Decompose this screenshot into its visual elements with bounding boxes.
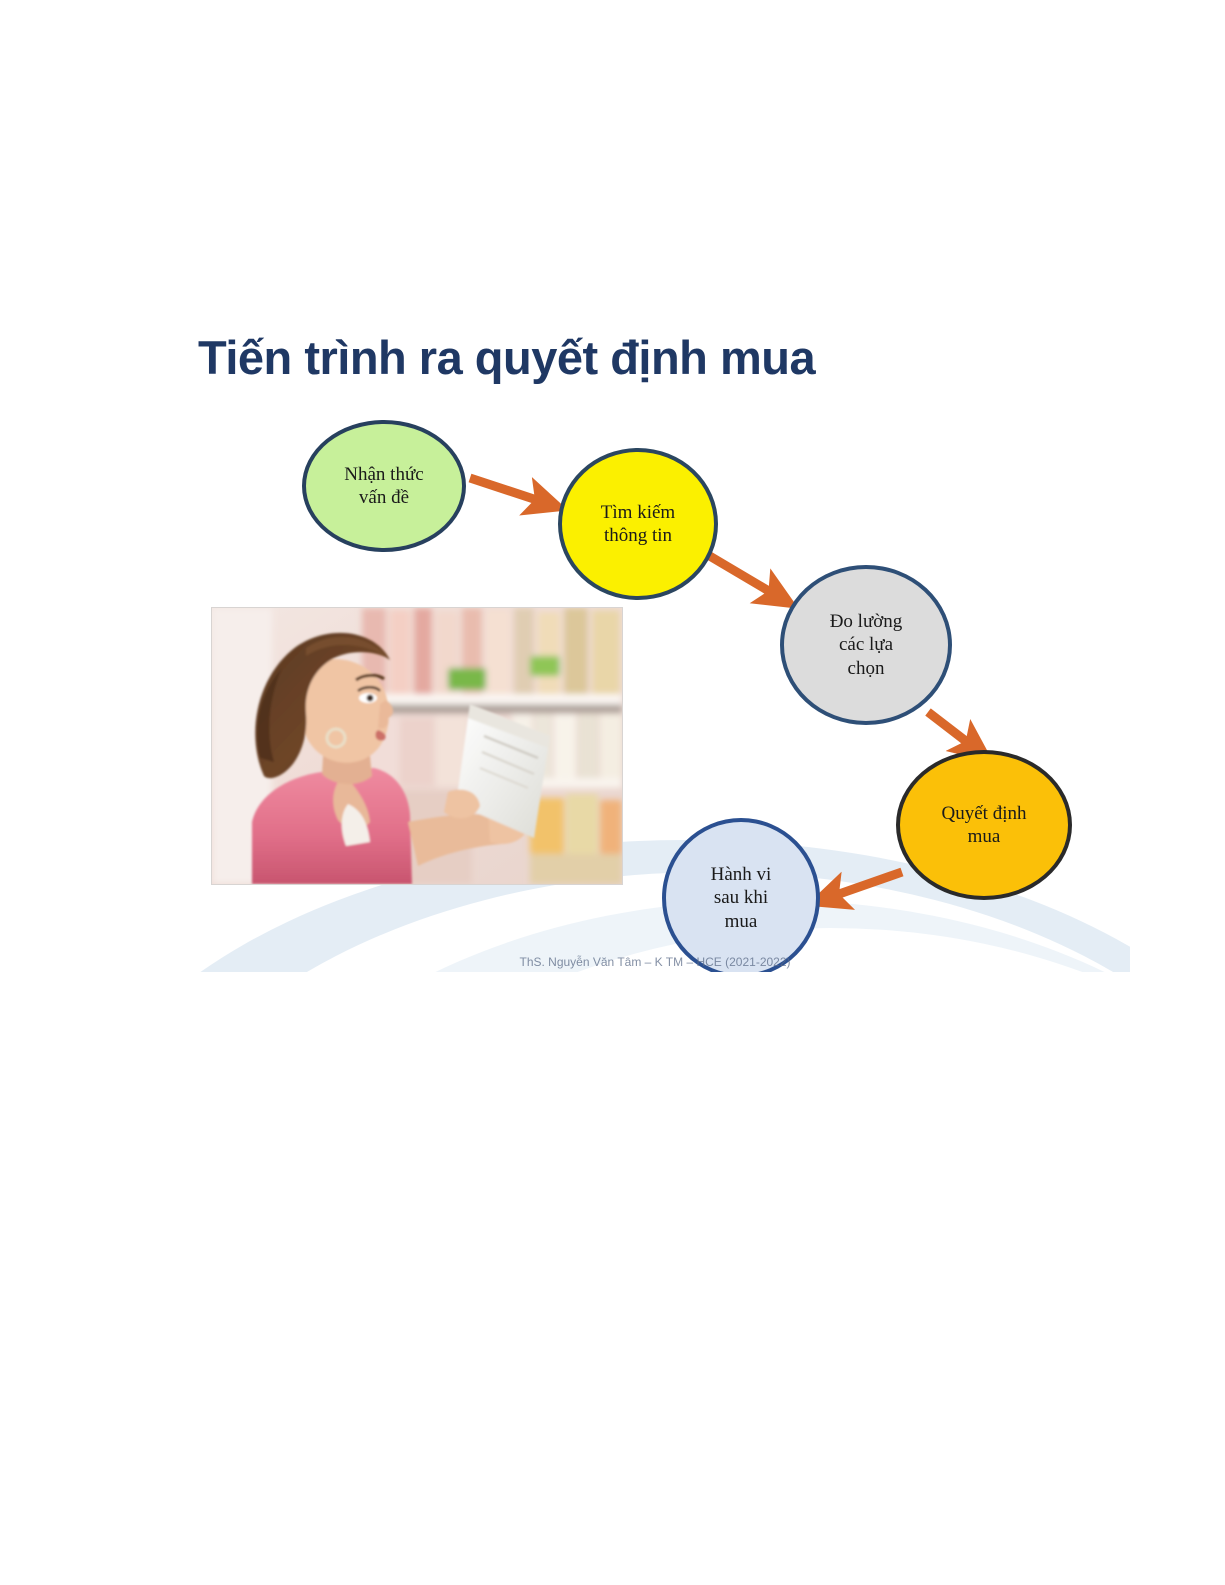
flow-node-label: Nhận thức vấn đề: [338, 463, 429, 509]
flow-node-tim-kiem-thong-tin[interactable]: Tìm kiếm thông tin: [558, 448, 718, 600]
flow-node-do-luong-cac-lua-chon[interactable]: Đo lường các lựa chọn: [780, 565, 952, 725]
supermarket-shopper-photo: [212, 608, 622, 884]
arrow-1-to-2: [470, 478, 552, 505]
presentation-slide: Tiến trình ra quyết định mua Nhận thức v…: [180, 300, 1130, 972]
flow-node-label: Tìm kiếm thông tin: [595, 501, 681, 547]
flow-node-nhan-thuc-van-de[interactable]: Nhận thức vấn đề: [302, 420, 466, 552]
arrow-2-to-3: [708, 555, 784, 600]
document-page: Tiến trình ra quyết định mua Nhận thức v…: [0, 0, 1225, 1585]
flow-node-label: Hành vi sau khi mua: [705, 863, 778, 933]
arrow-3-to-4: [928, 712, 980, 752]
flow-node-label: Đo lường các lựa chọn: [824, 610, 909, 680]
flow-node-quyet-dinh-mua[interactable]: Quyết định mua: [896, 750, 1072, 900]
flow-node-label: Quyết định mua: [936, 802, 1033, 848]
slide-footer-credit: ThS. Nguyễn Văn Tâm – K TM – HCE (2021-2…: [180, 955, 1130, 969]
arrow-4-to-5: [822, 872, 902, 900]
flow-node-hanh-vi-sau-khi-mua[interactable]: Hành vi sau khi mua: [662, 818, 820, 972]
slide-title: Tiến trình ra quyết định mua: [198, 332, 815, 384]
